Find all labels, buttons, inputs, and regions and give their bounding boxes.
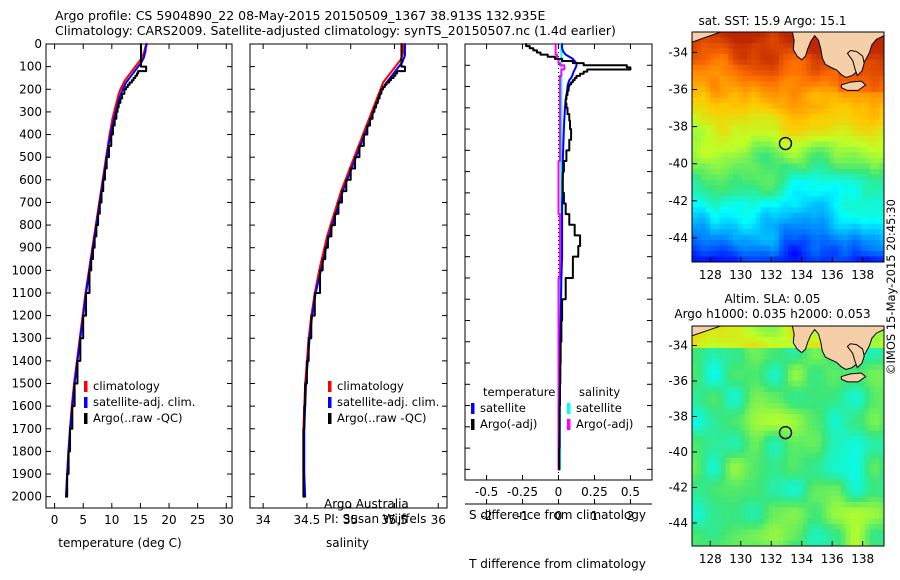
map-cell [729, 207, 734, 213]
map-cell [874, 502, 879, 508]
map-cell [843, 174, 848, 180]
map-cell [769, 420, 774, 426]
map-cell [779, 235, 784, 241]
map-cell [706, 365, 711, 371]
map-cell [797, 202, 802, 208]
temperature-plot[interactable]: 0100200300400500600700800900100011001200… [0, 38, 240, 538]
map-cell [798, 491, 803, 497]
map-cell [866, 81, 871, 87]
map-cell [834, 229, 839, 235]
map-cell [751, 120, 756, 126]
map-cell [846, 431, 851, 437]
map-cell [831, 392, 836, 398]
map-cell [852, 103, 857, 109]
map-cell [779, 48, 784, 54]
difference-plot[interactable]: -0.5-0.2500.250.5-2-1012temperaturesatel… [455, 38, 660, 538]
map-cell [826, 491, 831, 497]
map-cell [730, 530, 735, 536]
map-cell [825, 202, 830, 208]
map-cell [841, 530, 846, 536]
map-cell [721, 354, 726, 360]
map-cell [812, 442, 817, 448]
map-cell [721, 431, 726, 437]
map-cell [692, 43, 697, 49]
map-cell [806, 196, 811, 202]
map-cell [740, 502, 745, 508]
map-cell [866, 180, 871, 186]
map-cell [815, 131, 820, 137]
map-cell [702, 431, 707, 437]
map-cell [742, 120, 747, 126]
legend-group-title: salinity [579, 385, 620, 399]
map-cell [815, 246, 820, 252]
map-cell [774, 420, 779, 426]
legend-swatch [567, 403, 571, 414]
map-cell [815, 240, 820, 246]
map-cell [716, 359, 721, 365]
map-cell [834, 131, 839, 137]
map-cell [721, 513, 726, 519]
map-cell [702, 508, 707, 514]
map-cell [783, 337, 788, 343]
map-cell [742, 185, 747, 191]
map-cell [798, 365, 803, 371]
map-cell [740, 431, 745, 437]
map-cell [706, 70, 711, 76]
map-cell [692, 464, 697, 470]
map-cell [701, 114, 706, 120]
map-cell [817, 453, 822, 459]
map-cell [702, 387, 707, 393]
map-cell [692, 486, 697, 492]
map-cell [733, 218, 738, 224]
map-cell [783, 180, 788, 186]
map-cell [715, 109, 720, 115]
map-cell [692, 169, 697, 175]
map-cell [715, 114, 720, 120]
map-cell [769, 403, 774, 409]
map-cell [765, 213, 770, 219]
map-cell [831, 376, 836, 382]
map-cell [806, 240, 811, 246]
map-cell [702, 535, 707, 541]
map-cell [855, 513, 860, 519]
map-cell [759, 453, 764, 459]
map-cell [826, 431, 831, 437]
map-cell [788, 414, 793, 420]
map-cell [706, 207, 711, 213]
map-cell [697, 169, 702, 175]
map-cell [726, 343, 731, 349]
map-cell [875, 65, 880, 71]
map-cell [815, 114, 820, 120]
map-cell [875, 48, 880, 54]
map-cell [729, 180, 734, 186]
map-cell [811, 202, 816, 208]
map-cell [802, 381, 807, 387]
map-cell [870, 480, 875, 486]
map-cell [788, 251, 793, 257]
map-cell [838, 98, 843, 104]
map-cell [747, 70, 752, 76]
map-cell [806, 218, 811, 224]
map-cell [735, 387, 740, 393]
map-cell [735, 370, 740, 376]
map-cell [836, 392, 841, 398]
map-cell [733, 81, 738, 87]
map-cell [875, 109, 880, 115]
map-cell [697, 87, 702, 93]
map-cell [730, 343, 735, 349]
map-cell [719, 147, 724, 153]
map-cell [770, 152, 775, 158]
map-cell [797, 163, 802, 169]
map-cell [806, 81, 811, 87]
map-cell [829, 196, 834, 202]
map-cell [750, 354, 755, 360]
map-cell [697, 343, 702, 349]
map-cell [774, 436, 779, 442]
map-cell [751, 207, 756, 213]
map-cell [756, 92, 761, 98]
map-cell [811, 207, 816, 213]
map-cell [874, 535, 879, 541]
map-cell [769, 458, 774, 464]
map-cell [721, 458, 726, 464]
map-cell [807, 343, 812, 349]
map-cell [870, 202, 875, 208]
map-cell [750, 442, 755, 448]
map-cell [798, 486, 803, 492]
map-cell [788, 370, 793, 376]
map-cell [861, 147, 866, 153]
sst-map[interactable]: 128130132134136138-34-36-38-40-42-44 [660, 28, 890, 288]
map-cell [710, 174, 715, 180]
map-cell [730, 447, 735, 453]
map-cell [710, 246, 715, 252]
map-y-tick-label: -36 [668, 83, 688, 97]
map-cell [774, 174, 779, 180]
map-cell [738, 54, 743, 60]
map-cell [857, 158, 862, 164]
map-cell [857, 125, 862, 131]
map-cell [738, 125, 743, 131]
map-cell [812, 414, 817, 420]
map-cell [852, 251, 857, 257]
map-cell [788, 169, 793, 175]
map-cell [719, 251, 724, 257]
map-cell [838, 218, 843, 224]
map-cell [750, 348, 755, 354]
map-cell [861, 120, 866, 126]
map-cell [850, 480, 855, 486]
map-cell [738, 32, 743, 38]
map-cell [779, 54, 784, 60]
map-cell [706, 169, 711, 175]
map-cell [865, 524, 870, 530]
map-cell [738, 87, 743, 93]
map-cell [847, 120, 852, 126]
map-cell [874, 348, 879, 354]
map-cell [742, 224, 747, 230]
salinity-plot[interactable]: 3434.53535.536climatologysatellite-adj. … [240, 38, 455, 538]
map-cell [721, 326, 726, 332]
map-cell [738, 92, 743, 98]
map-cell [788, 207, 793, 213]
map-cell [783, 81, 788, 87]
map-cell [870, 213, 875, 219]
map-cell [701, 163, 706, 169]
map-cell [820, 213, 825, 219]
map-cell [764, 420, 769, 426]
map-cell [822, 420, 827, 426]
map-x-tick-label: 130 [729, 552, 752, 566]
map-cell [751, 163, 756, 169]
map-cell [831, 403, 836, 409]
map-cell [706, 251, 711, 257]
map-cell [865, 436, 870, 442]
map-cell [716, 469, 721, 475]
map-cell [770, 98, 775, 104]
map-cell [711, 420, 716, 426]
map-cell [855, 497, 860, 503]
map-cell [706, 469, 711, 475]
map-cell [740, 398, 745, 404]
map-cell [745, 348, 750, 354]
map-cell [711, 392, 716, 398]
map-cell [811, 70, 816, 76]
map-cell [692, 81, 697, 87]
map-cell [774, 103, 779, 109]
map-cell [874, 403, 879, 409]
map-cell [822, 497, 827, 503]
map-cell [798, 420, 803, 426]
map-cell [831, 370, 836, 376]
map-cell [812, 491, 817, 497]
map-cell [719, 202, 724, 208]
map-cell [697, 524, 702, 530]
map-cell [701, 229, 706, 235]
map-cell [747, 59, 752, 65]
map-cell [838, 163, 843, 169]
map-cell [715, 163, 720, 169]
map-cell [750, 398, 755, 404]
map-cell [756, 224, 761, 230]
map-cell [806, 125, 811, 131]
map-cell [735, 535, 740, 541]
map-cell [764, 464, 769, 470]
map-cell [812, 343, 817, 349]
map-cell [761, 70, 766, 76]
map-cell [847, 125, 852, 131]
map-cell [852, 191, 857, 197]
map-cell [860, 469, 865, 475]
sla-map[interactable]: 128130132134136138-34-36-38-40-42-44 [660, 322, 890, 572]
map-cell [697, 114, 702, 120]
map-cell [759, 387, 764, 393]
map-cell [756, 48, 761, 54]
map-cell [769, 475, 774, 481]
map-cell [754, 508, 759, 514]
map-cell [870, 453, 875, 459]
map-cell [710, 103, 715, 109]
map-cell [724, 54, 729, 60]
map-cell [865, 486, 870, 492]
map-cell [847, 131, 852, 137]
map-cell [742, 196, 747, 202]
map-cell [812, 348, 817, 354]
map-cell [855, 469, 860, 475]
map-cell [726, 447, 731, 453]
map-cell [729, 65, 734, 71]
y-tick-label: 1500 [11, 377, 42, 391]
map-cell [769, 354, 774, 360]
map-cell [745, 458, 750, 464]
map-cell [783, 502, 788, 508]
map-cell [715, 213, 720, 219]
map-cell [793, 81, 798, 87]
map-cell [825, 76, 830, 82]
map-cell [697, 152, 702, 158]
map-cell [788, 491, 793, 497]
map-cell [759, 480, 764, 486]
map-cell [774, 381, 779, 387]
map-cell [822, 370, 827, 376]
map-cell [866, 229, 871, 235]
map-cell [826, 469, 831, 475]
map-cell [765, 196, 770, 202]
map-cell [829, 163, 834, 169]
map-cell [716, 343, 721, 349]
map-cell [774, 370, 779, 376]
map-cell [710, 81, 715, 87]
map-cell [822, 486, 827, 492]
map-cell [798, 502, 803, 508]
map-cell [846, 535, 851, 541]
map-cell [711, 431, 716, 437]
map-cell [866, 87, 871, 93]
map-cell [836, 431, 841, 437]
map-cell [798, 392, 803, 398]
map-cell [719, 54, 724, 60]
map-cell [750, 409, 755, 415]
map-cell [711, 464, 716, 470]
map-cell [811, 246, 816, 252]
map-cell [841, 502, 846, 508]
map-cell [738, 152, 743, 158]
map-cell [692, 114, 697, 120]
map-cell [846, 447, 851, 453]
map-cell [778, 535, 783, 541]
map-cell [761, 180, 766, 186]
map-cell [759, 398, 764, 404]
map-cell [697, 381, 702, 387]
map-cell [788, 109, 793, 115]
map-cell [834, 202, 839, 208]
map-cell [843, 224, 848, 230]
map-cell [745, 359, 750, 365]
map-cell [692, 240, 697, 246]
map-cell [774, 387, 779, 393]
map-cell [866, 185, 871, 191]
map-cell [740, 403, 745, 409]
map-cell [715, 48, 720, 54]
map-cell [738, 65, 743, 71]
map-cell [802, 354, 807, 360]
map-cell [831, 442, 836, 448]
map-cell [697, 54, 702, 60]
map-cell [806, 131, 811, 137]
map-cell [829, 92, 834, 98]
map-cell [738, 180, 743, 186]
map-cell [733, 180, 738, 186]
map-cell [778, 359, 783, 365]
map-cell [716, 524, 721, 530]
map-cell [797, 158, 802, 164]
map-cell [836, 508, 841, 514]
map-cell [783, 54, 788, 60]
map-cell [750, 458, 755, 464]
map-cell [740, 497, 745, 503]
map-cell [829, 125, 834, 131]
map-cell [770, 48, 775, 54]
map-cell [788, 158, 793, 164]
map-cell [761, 152, 766, 158]
map-cell [870, 376, 875, 382]
map-cell [798, 453, 803, 459]
map-y-tick-label: -36 [668, 374, 688, 388]
map-cell [870, 491, 875, 497]
map-cell [747, 43, 752, 49]
map-cell [855, 392, 860, 398]
map-cell [756, 142, 761, 148]
map-cell [774, 337, 779, 343]
map-cell [825, 142, 830, 148]
legend-swatch [471, 419, 475, 430]
map-cell [802, 65, 807, 71]
map-cell [711, 425, 716, 431]
map-cell [715, 152, 720, 158]
map-cell [706, 142, 711, 148]
map-cell [754, 398, 759, 404]
map-cell [847, 169, 852, 175]
map-cell [793, 387, 798, 393]
map-cell [860, 392, 865, 398]
map-cell [843, 180, 848, 186]
map-cell [866, 191, 871, 197]
map-cell [715, 224, 720, 230]
map-cell [735, 343, 740, 349]
map-cell [747, 125, 752, 131]
map-x-tick-label: 134 [790, 268, 813, 282]
map-cell [697, 213, 702, 219]
map-cell [793, 185, 798, 191]
map-cell [820, 98, 825, 104]
map-cell [769, 480, 774, 486]
map-cell [710, 235, 715, 241]
map-cell [716, 436, 721, 442]
map-cell [770, 103, 775, 109]
map-cell [870, 196, 875, 202]
map-cell [697, 354, 702, 360]
map-cell [865, 431, 870, 437]
map-cell [850, 508, 855, 514]
map-cell [788, 174, 793, 180]
map-cell [822, 447, 827, 453]
map-cell [866, 136, 871, 142]
map-cell [774, 508, 779, 514]
map-cell [765, 251, 770, 257]
